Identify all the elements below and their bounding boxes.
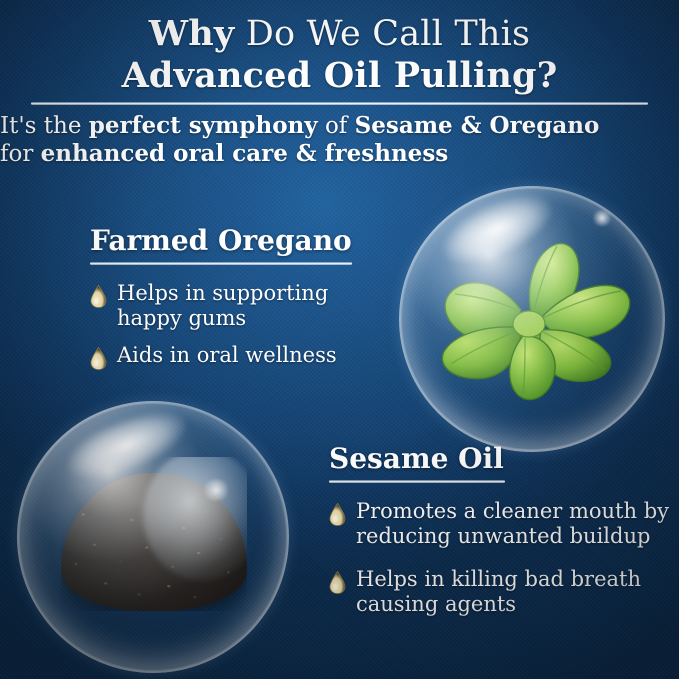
- list-item-text: Promotes a cleaner mouth by reducing unw…: [356, 499, 669, 549]
- section-sesame-oil: Sesame Oil Promotes a cleaner mouth by r…: [329, 442, 669, 635]
- page-title-line-2: Advanced Oil Pulling?: [0, 55, 679, 97]
- subtitle-emphasis-3: enhanced oral care & freshness: [41, 140, 449, 167]
- page-title-emphasis: Why: [149, 13, 235, 54]
- subtitle-emphasis-1: perfect symphony: [89, 112, 318, 139]
- bubble-highlight-small: [201, 479, 231, 501]
- subtitle-text-1: It's the: [0, 113, 89, 139]
- list-item: Helps in supporting happy gums: [90, 281, 390, 331]
- list-item-text: Aids in oral wellness: [117, 343, 337, 368]
- oregano-bubble: [399, 186, 665, 452]
- bubble-highlight-small: [591, 210, 613, 226]
- oil-drop-icon: [329, 503, 346, 526]
- section-heading-sesame: Sesame Oil: [329, 442, 669, 476]
- subtitle-emphasis-2: Sesame & Oregano: [355, 112, 600, 139]
- list-item: Promotes a cleaner mouth by reducing unw…: [329, 499, 669, 549]
- oil-drop-icon: [329, 571, 346, 594]
- title-divider: [31, 102, 648, 105]
- subtitle-text-3: for: [0, 141, 41, 167]
- list-item: Aids in oral wellness: [90, 343, 390, 370]
- subtitle-line-2: for enhanced oral care & freshness: [0, 140, 679, 168]
- list-item-text: Helps in killing bad breath causing agen…: [356, 567, 669, 617]
- section-farmed-oregano: Farmed Oregano Helps in su: [90, 224, 390, 382]
- oil-drop-icon: [90, 285, 107, 308]
- list-item-text: Helps in supporting happy gums: [117, 281, 390, 331]
- infographic-poster: Why Do We Call This Advanced Oil Pulling…: [0, 0, 679, 679]
- section-heading-oregano: Farmed Oregano: [90, 224, 390, 258]
- subtitle-line-1: It's the perfect symphony of Sesame & Or…: [0, 112, 679, 140]
- list-item: Helps in killing bad breath causing agen…: [329, 567, 669, 617]
- benefit-list-sesame: Promotes a cleaner mouth by reducing unw…: [329, 499, 669, 617]
- subtitle-text-2: of: [318, 113, 355, 139]
- page-title-rest: Do We Call This: [234, 14, 530, 54]
- sesame-bubble: [17, 401, 289, 673]
- section-underline-oregano: [90, 262, 352, 265]
- page-title-line-1: Why Do We Call This: [0, 13, 679, 55]
- section-underline-sesame: [329, 480, 505, 483]
- subtitle: It's the perfect symphony of Sesame & Or…: [0, 112, 679, 168]
- benefit-list-oregano: Helps in supporting happy gums Aids in o…: [90, 281, 390, 370]
- header: Why Do We Call This Advanced Oil Pulling…: [0, 0, 679, 97]
- oil-drop-icon: [90, 347, 107, 370]
